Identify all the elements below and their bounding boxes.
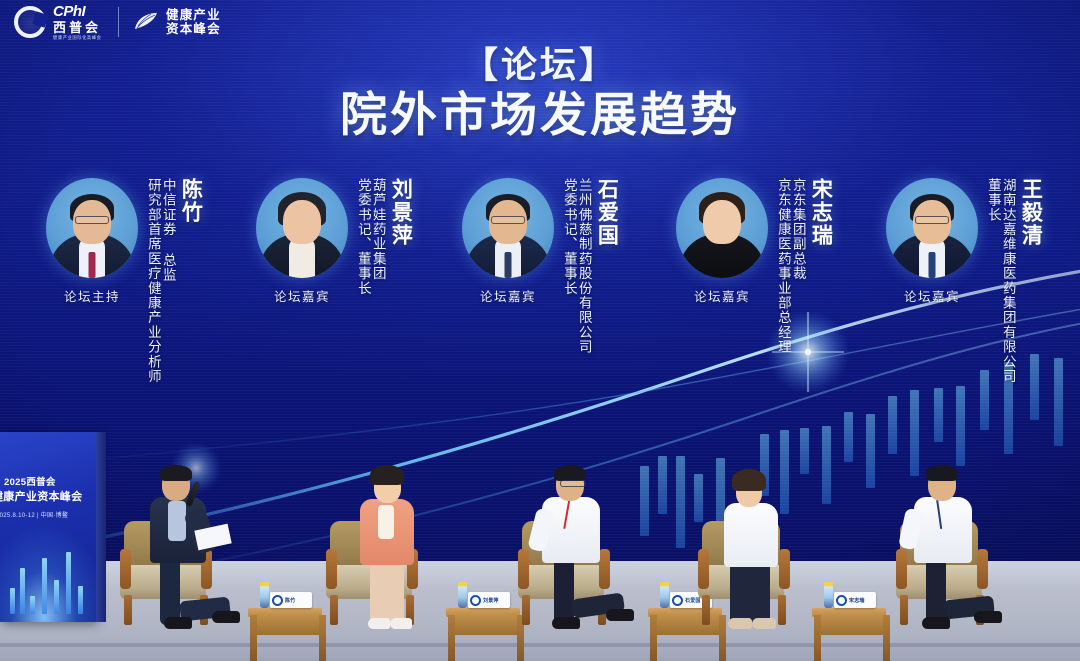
seat-group bbox=[688, 425, 828, 625]
badge bbox=[562, 532, 575, 541]
panelist-strip: 论坛主持 陈竹 中信证券 总监 研究部首席医疗健康产业分析师 论坛嘉宾 刘景萍 bbox=[0, 178, 1080, 428]
forum-title-line1: 【论坛】 bbox=[0, 44, 1080, 85]
water-bottle bbox=[458, 582, 467, 608]
banner-line3: 2025.8.10-12 | 中国·博鳌 bbox=[0, 510, 68, 519]
seated-panelist bbox=[344, 457, 444, 625]
panelist-name: 刘景萍 bbox=[389, 178, 412, 247]
nameplate-logo-icon bbox=[672, 595, 683, 606]
panelist-card: 论坛嘉宾 王毅清 湖南达嘉维康医药集团有限公司 董事长 bbox=[886, 178, 1041, 428]
nameplate-logo-icon bbox=[470, 595, 481, 606]
nameplate-text: 陈竹 bbox=[285, 597, 295, 604]
panelist-card: 论坛嘉宾 石爱国 兰州佛慈制药股份有限公司 党委书记、董事长 bbox=[462, 178, 617, 428]
seat-group bbox=[326, 425, 466, 625]
panelist-portrait bbox=[676, 178, 768, 278]
nameplate: 陈竹 bbox=[270, 592, 312, 608]
seated-panelist bbox=[528, 453, 638, 625]
panelist-name: 王毅清 bbox=[1019, 178, 1042, 247]
banner-line2: 健康产业资本峰会 bbox=[0, 488, 82, 504]
nameplate-logo-icon bbox=[836, 595, 847, 606]
forum-title-line2: 院外市场发展趋势 bbox=[0, 87, 1080, 142]
banner-pole bbox=[96, 432, 106, 622]
nameplate: 宋志瑞 bbox=[834, 592, 876, 608]
panelist-role-caption: 论坛嘉宾 bbox=[676, 286, 768, 305]
panelist-org: 葫芦娃药业集团 bbox=[370, 178, 385, 281]
panelist-position: 研究部首席医疗健康产业分析师 bbox=[145, 178, 160, 384]
nameplate-logo-icon bbox=[272, 595, 283, 606]
cphi-logo-sub: 健康产业国际化高峰会 bbox=[53, 36, 101, 40]
leaf-icon bbox=[133, 11, 159, 33]
nameplate: 刘景萍 bbox=[468, 592, 510, 608]
panelist-org: 京东集团副总裁 bbox=[790, 178, 805, 281]
cphi-ring-icon bbox=[14, 6, 46, 38]
logo-divider bbox=[118, 7, 119, 37]
panelist-org: 湖南达嘉维康医药集团有限公司 bbox=[1000, 178, 1015, 384]
side-table: 宋志瑞 bbox=[812, 551, 892, 661]
panelist-role-caption: 论坛嘉宾 bbox=[256, 286, 348, 305]
water-bottle bbox=[660, 582, 669, 608]
rollup-banner: 2025西普会 健康产业资本峰会 2025.8.10-12 | 中国·博鳌 bbox=[0, 432, 96, 622]
seat-group bbox=[512, 425, 662, 625]
nameplate-text: 刘景萍 bbox=[483, 597, 499, 604]
summit-logo-line1: 健康产业 bbox=[166, 8, 221, 22]
conference-stage-photo: CPhI 西普会 健康产业国际化高峰会 健康产业 资本峰会 【论坛】 院外市场发… bbox=[0, 0, 1080, 661]
cphi-logo-en: CPhI bbox=[53, 4, 104, 19]
cphi-logo: CPhI 西普会 健康产业国际化高峰会 bbox=[14, 4, 104, 41]
forum-title-block: 【论坛】 院外市场发展趋势 bbox=[0, 44, 1080, 143]
panelist-position: 京东健康医药事业部总经理 bbox=[775, 178, 790, 354]
panelist-position: 董事长 bbox=[985, 178, 1000, 222]
panelist-portrait bbox=[256, 178, 348, 278]
nameplate-text: 宋志瑞 bbox=[849, 597, 865, 604]
seat-group bbox=[884, 425, 1044, 625]
water-bottle bbox=[824, 582, 833, 608]
panelist-name: 陈竹 bbox=[179, 178, 202, 224]
badge bbox=[934, 532, 947, 541]
side-table: 陈竹 bbox=[248, 551, 328, 661]
panelist-portrait bbox=[46, 178, 138, 278]
panelist-portrait bbox=[462, 178, 554, 278]
panelist-card: 论坛嘉宾 宋志瑞 京东集团副总裁 京东健康医药事业部总经理 bbox=[676, 178, 831, 428]
seated-panelist bbox=[898, 455, 1018, 625]
water-bottle bbox=[260, 582, 269, 608]
panelist-card: 论坛嘉宾 刘景萍 葫芦娃药业集团 党委书记、董事长 bbox=[256, 178, 411, 428]
banner-line1: 2025西普会 bbox=[4, 474, 56, 488]
summit-logo: 健康产业 资本峰会 bbox=[133, 8, 221, 36]
summit-logo-line2: 资本峰会 bbox=[166, 22, 221, 36]
panelist-name: 石爱国 bbox=[595, 178, 618, 247]
seated-panelist bbox=[708, 459, 808, 625]
panelist-name: 宋志瑞 bbox=[809, 178, 832, 247]
panelist-role-caption: 论坛主持 bbox=[46, 286, 138, 305]
event-logo-bar: CPhI 西普会 健康产业国际化高峰会 健康产业 资本峰会 bbox=[14, 4, 221, 41]
panelist-org: 兰州佛慈制药股份有限公司 bbox=[576, 178, 591, 354]
panelist-portrait bbox=[886, 178, 978, 278]
panelist-org: 中信证券 总监 bbox=[160, 178, 175, 282]
stage-floor-edge bbox=[0, 643, 1080, 647]
seated-panelist bbox=[136, 455, 246, 625]
panelist-position: 党委书记、董事长 bbox=[355, 178, 370, 296]
cphi-logo-cn: 西普会 bbox=[53, 21, 104, 34]
panelist-role-caption: 论坛嘉宾 bbox=[886, 286, 978, 305]
panelist-card: 论坛主持 陈竹 中信证券 总监 研究部首席医疗健康产业分析师 bbox=[46, 178, 201, 428]
panelist-role-caption: 论坛嘉宾 bbox=[462, 286, 554, 305]
panelist-position: 党委书记、董事长 bbox=[561, 178, 576, 296]
